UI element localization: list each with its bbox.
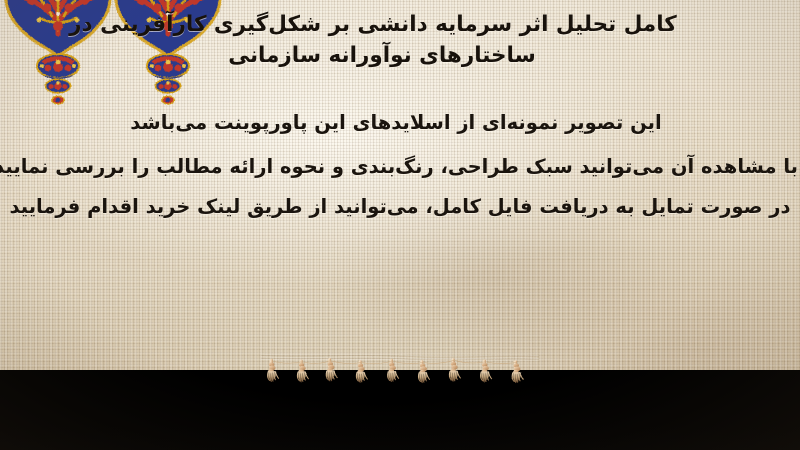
title-line-1: کامل تحلیل اثر سرمایه دانشی بر شکل‌گیری … [14, 9, 732, 40]
body-line-1: این تصویر نمونه‌ای از اسلایدهای این پاور… [0, 108, 792, 138]
title-line-2: ساختارهای نوآورانه سازمانی [14, 40, 750, 71]
carpet-fringe-zone [0, 352, 800, 450]
body-line-2: با مشاهده آن می‌توانید سبک طراحی، رنگ‌بن… [0, 152, 798, 182]
carpet-fringe-tassels [0, 352, 800, 386]
slide-title: کامل تحلیل اثر سرمایه دانشی بر شکل‌گیری … [0, 9, 800, 71]
body-line-3: در صورت تمایل به دریافت فایل کامل، می‌تو… [0, 192, 800, 222]
slide-body: این تصویر نمونه‌ای از اسلایدهای این پاور… [0, 108, 800, 232]
powerpoint-slide: کامل تحلیل اثر سرمایه دانشی بر شکل‌گیری … [0, 0, 800, 450]
